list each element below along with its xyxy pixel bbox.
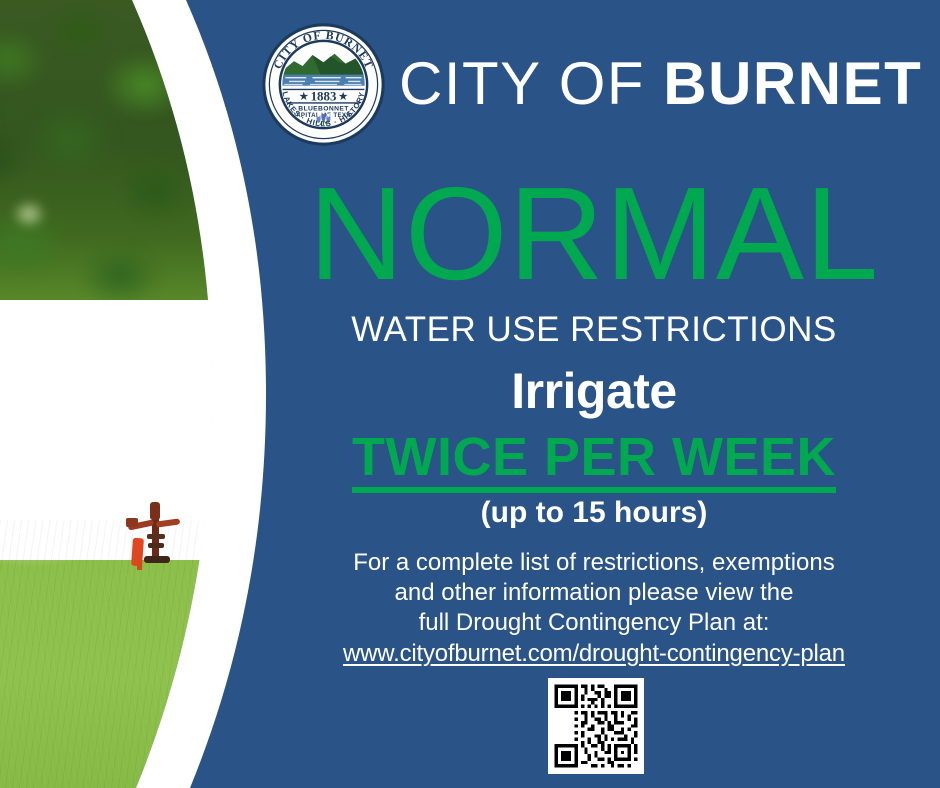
poster-content: 1883 ★ ★ BLUEBONNET CAPITAL OF TEXAS: [248, 0, 940, 788]
city-seal-icon: 1883 ★ ★ BLUEBONNET CAPITAL OF TEXAS: [262, 23, 385, 146]
water-use-restrictions-label: WATER USE RESTRICTIONS: [248, 312, 940, 347]
sprinkler-collar-lower: [148, 543, 164, 548]
sprinkler-photo: [0, 0, 260, 788]
info-line-1: For a complete list of restrictions, exe…: [248, 548, 940, 578]
sprinkler-base: [144, 556, 170, 563]
seal-star-right: ★: [338, 89, 348, 102]
sprinkler-arm-right: [156, 518, 181, 527]
seal-year: 1883: [311, 88, 337, 103]
tree-light-gap: [12, 200, 46, 228]
sprinkler-marker-stem: [137, 554, 142, 570]
sprinkler-head-icon: [126, 498, 182, 568]
sprinkler-collar-upper: [147, 534, 165, 539]
water-restriction-poster: 1883 ★ ★ BLUEBONNET CAPITAL OF TEXAS: [0, 0, 940, 788]
frequency-container: TWICE PER WEEK: [248, 430, 940, 493]
brand-city-of: CITY OF: [399, 50, 645, 117]
brand-title: CITY OF BURNET: [399, 54, 922, 114]
brand-burnet: BURNET: [663, 50, 922, 117]
info-line-2: and other information please view the: [248, 578, 940, 608]
seal-star-left: ★: [299, 89, 309, 102]
poster-header: 1883 ★ ★ BLUEBONNET CAPITAL OF TEXAS: [262, 18, 934, 150]
drought-plan-url[interactable]: www.cityofburnet.com/drought-contingency…: [248, 639, 940, 669]
irrigation-frequency: TWICE PER WEEK: [352, 430, 836, 493]
info-line-3: full Drought Contingency Plan at:: [248, 608, 940, 638]
irrigation-duration: (up to 15 hours): [248, 498, 940, 528]
qr-code-image: [548, 678, 644, 774]
sprinkler-nozzle: [126, 518, 138, 527]
photo-clip: [0, 0, 260, 788]
irrigate-label: Irrigate: [248, 366, 940, 416]
info-paragraph: For a complete list of restrictions, exe…: [248, 548, 940, 669]
sprinkler-top: [150, 502, 160, 520]
drought-stage-status: NORMAL: [248, 168, 940, 300]
qr-code[interactable]: [548, 678, 644, 774]
